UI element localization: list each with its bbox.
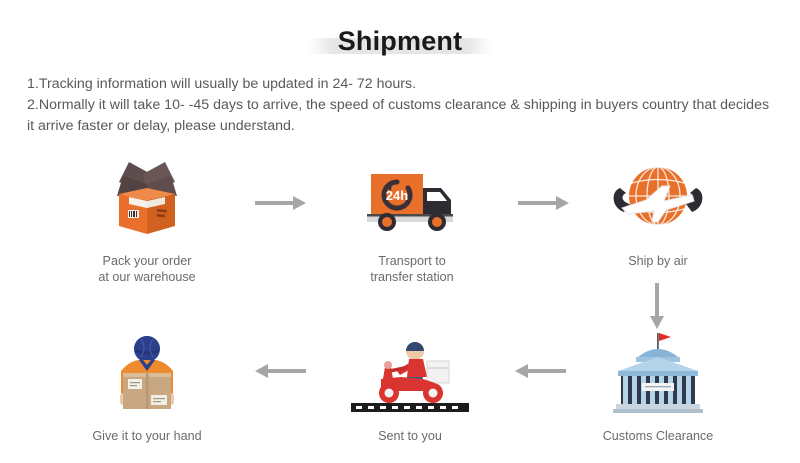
caption-line-1: Give it to your hand [47,428,247,444]
step-pack-your-order: Pack your order at our warehouse [47,152,247,285]
page-title: Shipment [0,26,800,57]
arrow-left-icon [513,364,566,378]
delivery-scooter-icon [310,327,510,415]
step-caption: Give it to your hand [47,428,247,444]
open-box-icon [47,152,247,240]
person-with-package-icon [47,327,247,415]
globe-airplane-icon [558,152,758,240]
step-customs-clearance: Customs Clearance [558,327,758,444]
arrow-right-icon [255,196,308,210]
page-header: Shipment [0,26,800,66]
caption-line-1: Pack your order [47,253,247,269]
arrow-left-icon [253,364,306,378]
caption-line-1: Customs Clearance [558,428,758,444]
step-caption: Ship by air [558,253,758,269]
step-ship-by-air: Ship by air [558,152,758,269]
caption-line-2: transfer station [312,269,512,285]
step-sent-to-you: Sent to you [310,327,510,444]
caption-line-1: Transport to [312,253,512,269]
customs-building-icon [558,327,758,415]
arrow-down-icon [650,283,664,330]
step-caption: Pack your order at our warehouse [47,253,247,285]
truck-badge-text: 24h [386,188,408,203]
delivery-truck-icon: 24h [312,152,512,240]
caption-line-2: at our warehouse [47,269,247,285]
note-line-2: 2.Normally it will take 10- -45 days to … [27,95,771,137]
step-transport-to-transfer-station: 24h Transport to transfer station [312,152,512,285]
note-line-1: 1.Tracking information will usually be u… [27,74,771,95]
shipment-notes: 1.Tracking information will usually be u… [27,74,771,137]
arrow-right-icon [518,196,571,210]
step-give-it-to-your-hand: Give it to your hand [47,327,247,444]
caption-line-1: Sent to you [310,428,510,444]
step-caption: Transport to transfer station [312,253,512,285]
step-caption: Customs Clearance [558,428,758,444]
shipment-infographic: Shipment 1.Tracking information will usu… [0,0,800,463]
caption-line-1: Ship by air [558,253,758,269]
step-caption: Sent to you [310,428,510,444]
